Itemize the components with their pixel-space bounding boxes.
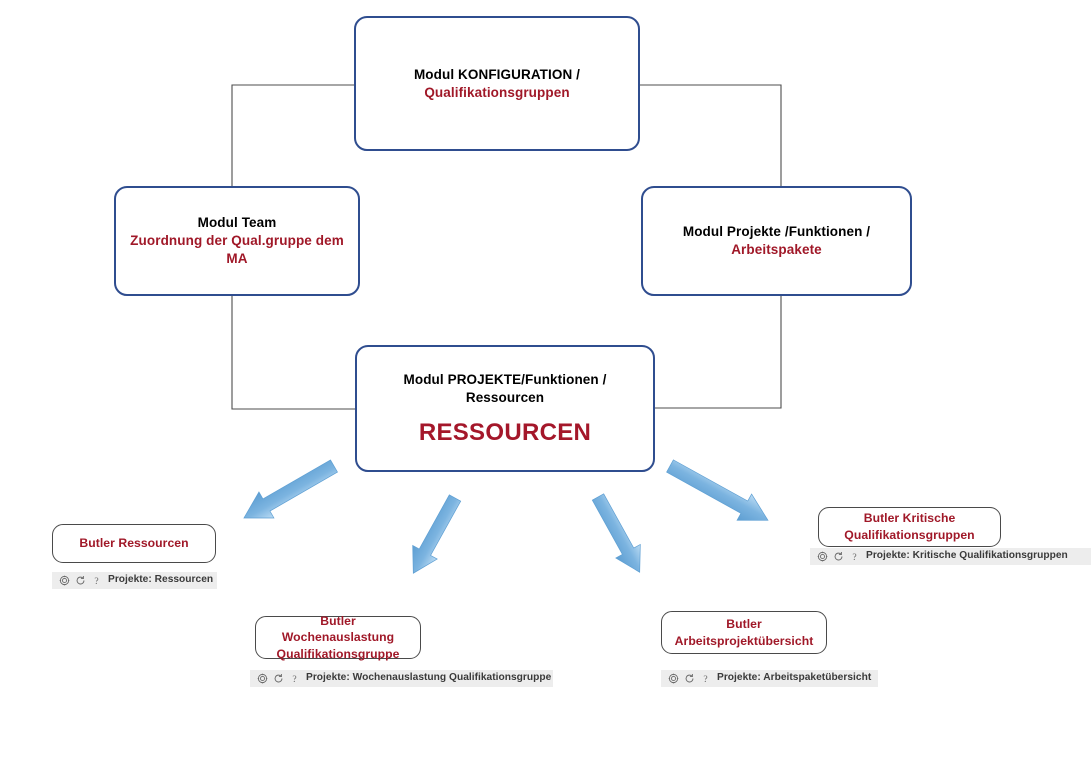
strip-ressourcen-text: Projekte: Ressourcen: [108, 575, 213, 585]
svg-text:?: ?: [852, 552, 856, 562]
module-team-title: Modul Team: [198, 214, 277, 232]
gear-icon[interactable]: [257, 673, 268, 684]
butler-box-arbeitsprojektuebersicht[interactable]: Butler Arbeitsprojektübersicht: [661, 611, 827, 654]
module-ressourcen-subtitle: RESSOURCEN: [419, 420, 591, 446]
strip-kritische-qualifikationsgruppen-text: Projekte: Kritische Qualifikationsgruppe…: [866, 551, 1068, 561]
module-box-projekte-funktionen[interactable]: Modul Projekte /Funktionen / Arbeitspake…: [641, 186, 912, 296]
module-projekte-funktionen-subtitle: Arbeitspakete: [731, 241, 822, 259]
module-ressourcen-title: Modul PROJEKTE/Funktionen / Ressourcen: [385, 371, 625, 407]
help-icon[interactable]: ?: [700, 673, 711, 684]
refresh-icon[interactable]: [833, 551, 844, 562]
strip-arbeitspaketuebersicht[interactable]: ? Projekte: Arbeitspaketübersicht: [661, 670, 878, 687]
module-konfiguration-subtitle: Qualifikationsgruppen: [424, 84, 569, 102]
butler-kritische-qualifikationsgruppen-label: Butler Kritische Qualifikationsgruppen: [819, 510, 1000, 543]
module-box-team[interactable]: Modul Team Zuordnung der Qual.gruppe dem…: [114, 186, 360, 296]
butler-ressourcen-label: Butler Ressourcen: [71, 535, 196, 552]
refresh-icon[interactable]: [273, 673, 284, 684]
strip-ressourcen[interactable]: ? Projekte: Ressourcen: [52, 572, 217, 589]
refresh-icon[interactable]: [75, 575, 86, 586]
svg-text:?: ?: [703, 674, 707, 684]
strip-wochenauslastung-text: Projekte: Wochenauslastung Qualifikation…: [306, 673, 551, 683]
module-konfiguration-title: Modul KONFIGURATION /: [414, 66, 580, 84]
butler-box-wochenauslastung[interactable]: Butler Wochenauslastung Qualifikationsgr…: [255, 616, 421, 659]
help-icon[interactable]: ?: [91, 575, 102, 586]
module-projekte-funktionen-title: Modul Projekte /Funktionen /: [683, 223, 870, 241]
strip-wochenauslastung[interactable]: ? Projekte: Wochenauslastung Qualifikati…: [250, 670, 553, 687]
butler-box-kritische-qualifikationsgruppen[interactable]: Butler Kritische Qualifikationsgruppen: [818, 507, 1001, 547]
strip-kritische-qualifikationsgruppen[interactable]: ? Projekte: Kritische Qualifikationsgrup…: [810, 548, 1091, 565]
butler-arbeitsprojektuebersicht-label: Butler Arbeitsprojektübersicht: [662, 616, 826, 649]
gear-icon[interactable]: [668, 673, 679, 684]
module-box-ressourcen[interactable]: Modul PROJEKTE/Funktionen / Ressourcen R…: [355, 345, 655, 472]
arrow-to-butler-arbeitsprojektuebersicht: [586, 490, 652, 579]
gear-icon[interactable]: [817, 551, 828, 562]
help-icon[interactable]: ?: [289, 673, 300, 684]
refresh-icon[interactable]: [684, 673, 695, 684]
butler-box-ressourcen[interactable]: Butler Ressourcen: [52, 524, 216, 563]
arrow-to-butler-wochenauslastung: [401, 491, 467, 580]
svg-text:?: ?: [94, 576, 98, 586]
help-icon[interactable]: ?: [849, 551, 860, 562]
module-box-konfiguration[interactable]: Modul KONFIGURATION / Qualifikationsgrup…: [354, 16, 640, 151]
arrow-to-butler-ressourcen: [236, 453, 341, 531]
gear-icon[interactable]: [59, 575, 70, 586]
svg-text:?: ?: [292, 674, 296, 684]
module-team-subtitle: Zuordnung der Qual.gruppe dem MA: [125, 232, 349, 268]
strip-arbeitspaketuebersicht-text: Projekte: Arbeitspaketübersicht: [717, 673, 871, 683]
diagram-canvas: Modul KONFIGURATION / Qualifikationsgrup…: [0, 0, 1091, 763]
arrow-to-butler-kritische-qualifikationsgruppen: [663, 453, 776, 534]
butler-wochenauslastung-label: Butler Wochenauslastung Qualifikationsgr…: [256, 613, 420, 663]
